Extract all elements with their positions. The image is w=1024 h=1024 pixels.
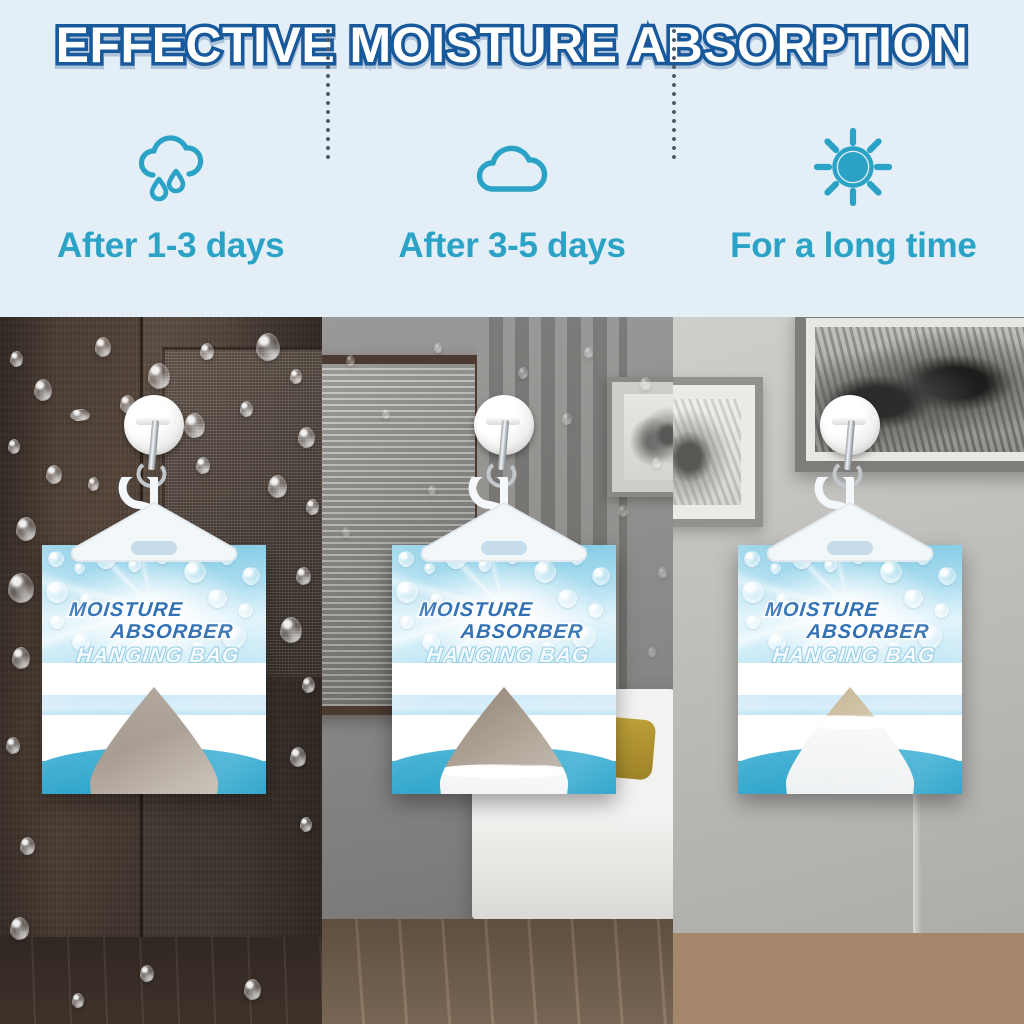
label-line-1: MOISTURE (392, 599, 589, 622)
feature-item-1: After 1-3 days (0, 112, 341, 302)
hanger-3 (765, 477, 935, 567)
feature-divider-1 (325, 28, 331, 164)
feature-label-2: After 3-5 days (398, 226, 625, 266)
hanger-2 (419, 477, 589, 567)
product-overlay-layer: MOISTURE ABSORBER HANGING BAG Please rep… (0, 317, 1024, 1024)
feature-row: After 1-3 days After 3-5 days (0, 112, 1024, 302)
hanger-1 (69, 477, 239, 567)
label-line-2: ABSORBER (755, 621, 962, 644)
header-band: EFFECTIVE MOISTURE ABSORPTION EFFECTIVE … (0, 0, 1024, 317)
sun-icon (814, 124, 892, 210)
bag-lower-panel (738, 663, 962, 794)
feature-divider-2 (671, 28, 677, 164)
collected-water-level (440, 771, 568, 794)
page-title: EFFECTIVE MOISTURE ABSORPTION (0, 16, 1024, 74)
label-line-2: ABSORBER (59, 621, 266, 644)
feature-item-2: After 3-5 days (341, 112, 682, 302)
cloud-icon (466, 124, 558, 210)
moisture-absorber-bag-3[interactable]: MOISTURE ABSORBER HANGING BAG Please rep… (738, 545, 962, 794)
moisture-absorber-bag-2[interactable]: MOISTURE ABSORBER HANGING BAG Please rep… (392, 545, 616, 794)
bag-lower-panel (392, 663, 616, 794)
rain-cloud-icon (129, 124, 213, 210)
bag-lower-panel (42, 663, 266, 794)
moisture-absorber-bag-1[interactable]: MOISTURE ABSORBER HANGING BAG Please rep… (42, 545, 266, 794)
label-line-1: MOISTURE (738, 599, 935, 622)
feature-label-1: After 1-3 days (57, 226, 284, 266)
label-line-2: ABSORBER (409, 621, 616, 644)
feature-item-3: For a long time (683, 112, 1024, 302)
label-line-1: MOISTURE (42, 599, 239, 622)
feature-label-3: For a long time (730, 226, 976, 266)
